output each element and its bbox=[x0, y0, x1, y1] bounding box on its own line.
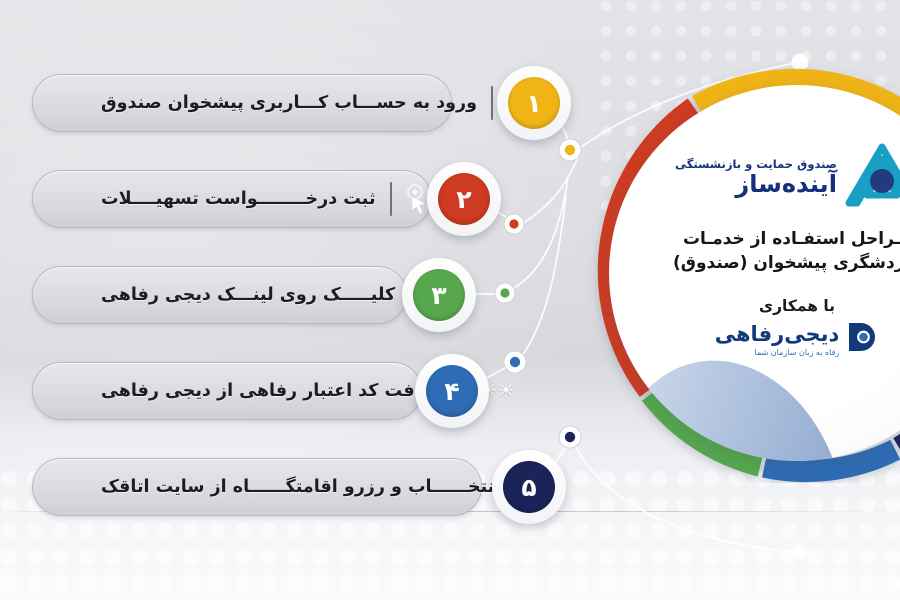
step-label-5: انتخــــــاب و رزرو اقامتگــــــاه از سا… bbox=[101, 477, 504, 497]
headline: مـراحل استفـاده از خدمـات گـردشگری پیشخو… bbox=[673, 227, 900, 275]
brand-lockup: صندوق حمایت و بازنشستگی آینده‌ساز bbox=[675, 143, 900, 213]
step-pill-1[interactable]: ورود به حســـاب کـــاربری پیشخوان صندوق bbox=[32, 74, 452, 132]
headline-line-1: مـراحل استفـاده از خدمـات bbox=[673, 227, 900, 251]
step-row-5[interactable]: انتخــــــاب و رزرو اقامتگــــــاه از سا… bbox=[32, 458, 482, 516]
step-number-2: ۲ bbox=[438, 173, 490, 225]
step-badge-2[interactable]: ۲ bbox=[427, 162, 501, 236]
step-badge-5[interactable]: ۵ bbox=[492, 450, 566, 524]
headline-line-2: گـردشگری پیشخوان (صندوق) bbox=[673, 251, 900, 275]
step-pill-5[interactable]: انتخــــــاب و رزرو اقامتگــــــاه از سا… bbox=[32, 458, 482, 516]
step-divider-1 bbox=[491, 86, 493, 120]
step-badge-1[interactable]: ۱ bbox=[497, 66, 571, 140]
step-number-3: ۳ bbox=[413, 269, 465, 321]
ayandehsaz-triangle-logo bbox=[845, 143, 900, 213]
step-number-4: ۴ bbox=[426, 365, 478, 417]
step-label-1: ورود به حســـاب کـــاربری پیشخوان صندوق bbox=[101, 93, 481, 113]
brand-name: آینده‌ساز bbox=[675, 172, 837, 196]
step-badge-4[interactable]: ۴ bbox=[415, 354, 489, 428]
step-label-2: ثبت درخــــــــواست تسهیــــلات bbox=[101, 189, 380, 209]
step-label-4: دریافت کد اعتبار رفاهی از دیجی رفاهی bbox=[101, 381, 451, 401]
step-row-3[interactable]: کلیـــــک روی لینـــک دیجی رفاهی ۳ bbox=[32, 266, 407, 324]
step-pill-3[interactable]: کلیـــــک روی لینـــک دیجی رفاهی bbox=[32, 266, 407, 324]
step-badge-3[interactable]: ۳ bbox=[402, 258, 476, 332]
wire-endpoint-bottom bbox=[792, 545, 806, 559]
step-row-2[interactable]: ثبت درخــــــــواست تسهیــــلات ۲ bbox=[32, 170, 432, 228]
digirefahi-monogram-icon bbox=[845, 320, 879, 358]
step-divider-2 bbox=[390, 182, 392, 216]
partner-tagline: رفاه به زبان سازمان شما bbox=[715, 348, 840, 357]
step-row-1[interactable]: ورود به حســـاب کـــاربری پیشخوان صندوق … bbox=[32, 74, 452, 132]
step-pill-2[interactable]: ثبت درخــــــــواست تسهیــــلات bbox=[32, 170, 432, 228]
step-number-1: ۱ bbox=[508, 77, 560, 129]
center-hub: صندوق حمایت و بازنشستگی آینده‌ساز مـراحل… bbox=[587, 63, 900, 483]
infographic-canvas: ورود به حســـاب کـــاربری پیشخوان صندوق … bbox=[0, 0, 900, 600]
with-cooperation-label: با همکاری bbox=[759, 297, 835, 315]
step-number-5: ۵ bbox=[503, 461, 555, 513]
partner-name: دیجی‌رفاهی bbox=[715, 322, 840, 346]
step-label-3: کلیـــــک روی لینـــک دیجی رفاهی bbox=[101, 285, 399, 305]
step-row-4[interactable]: دریافت کد اعتبار رفاهی از دیجی رفاهی ✳✳✳… bbox=[32, 362, 422, 420]
partner-lockup: دیجی‌رفاهی رفاه به زبان سازمان شما bbox=[715, 320, 880, 358]
step-pill-4[interactable]: دریافت کد اعتبار رفاهی از دیجی رفاهی ✳✳✳ bbox=[32, 362, 422, 420]
